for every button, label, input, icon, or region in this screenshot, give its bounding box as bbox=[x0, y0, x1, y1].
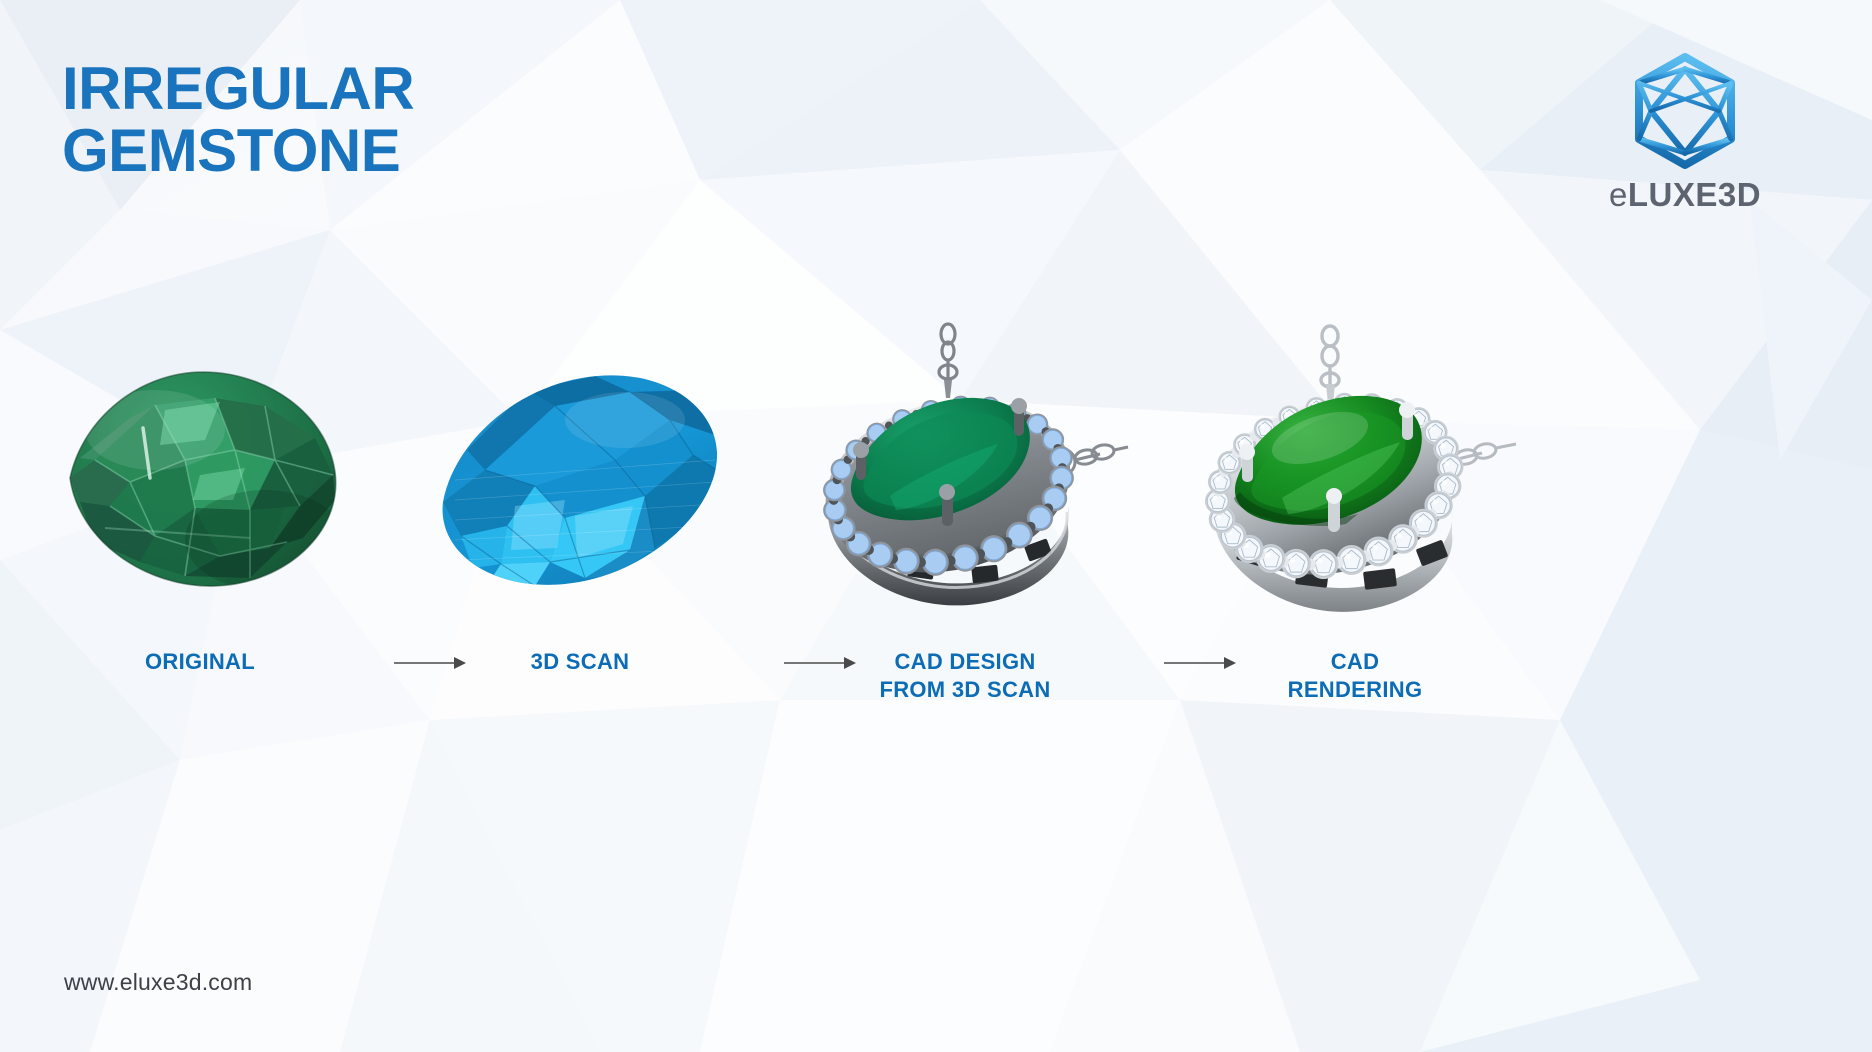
pipeline-step-render: CAD RENDERING bbox=[1190, 310, 1520, 640]
cad-pendant-model bbox=[800, 310, 1130, 640]
pipeline-step-original: ORIGINAL bbox=[35, 310, 365, 640]
title-line-1: IRREGULAR bbox=[62, 55, 414, 122]
pipeline-step-scan: 3D SCAN bbox=[415, 310, 745, 640]
halo-stone bbox=[831, 455, 853, 480]
faceted-emerald-photo bbox=[35, 310, 365, 640]
poster-canvas: IRREGULAR GEMSTONE bbox=[0, 0, 1872, 1052]
rendered-pendant bbox=[1190, 310, 1520, 640]
arrow-scan-to-cad bbox=[782, 648, 862, 678]
page-title: IRREGULAR GEMSTONE bbox=[62, 58, 414, 183]
caption-original: ORIGINAL bbox=[35, 648, 365, 676]
arrow-original-to-scan bbox=[392, 648, 472, 678]
arrow-cad-to-render bbox=[1162, 648, 1242, 678]
footer-url[interactable]: www.eluxe3d.com bbox=[64, 969, 252, 996]
wordmark-main: LUXE3D bbox=[1628, 176, 1761, 213]
blue-scan-mesh bbox=[415, 310, 745, 640]
title-line-2: GEMSTONE bbox=[62, 120, 414, 182]
brand-logo[interactable]: eLUXE3D bbox=[1570, 52, 1800, 214]
pipeline-step-cad: CAD DESIGN FROM 3D SCAN bbox=[800, 310, 1130, 640]
bail-chain bbox=[1321, 326, 1339, 387]
wordmark-prefix: e bbox=[1609, 176, 1628, 213]
process-pipeline: ORIGINAL bbox=[0, 310, 1872, 730]
hexagon-gem-logo-icon bbox=[1630, 52, 1740, 170]
bail-chain bbox=[939, 324, 957, 380]
brand-wordmark: eLUXE3D bbox=[1570, 176, 1800, 214]
